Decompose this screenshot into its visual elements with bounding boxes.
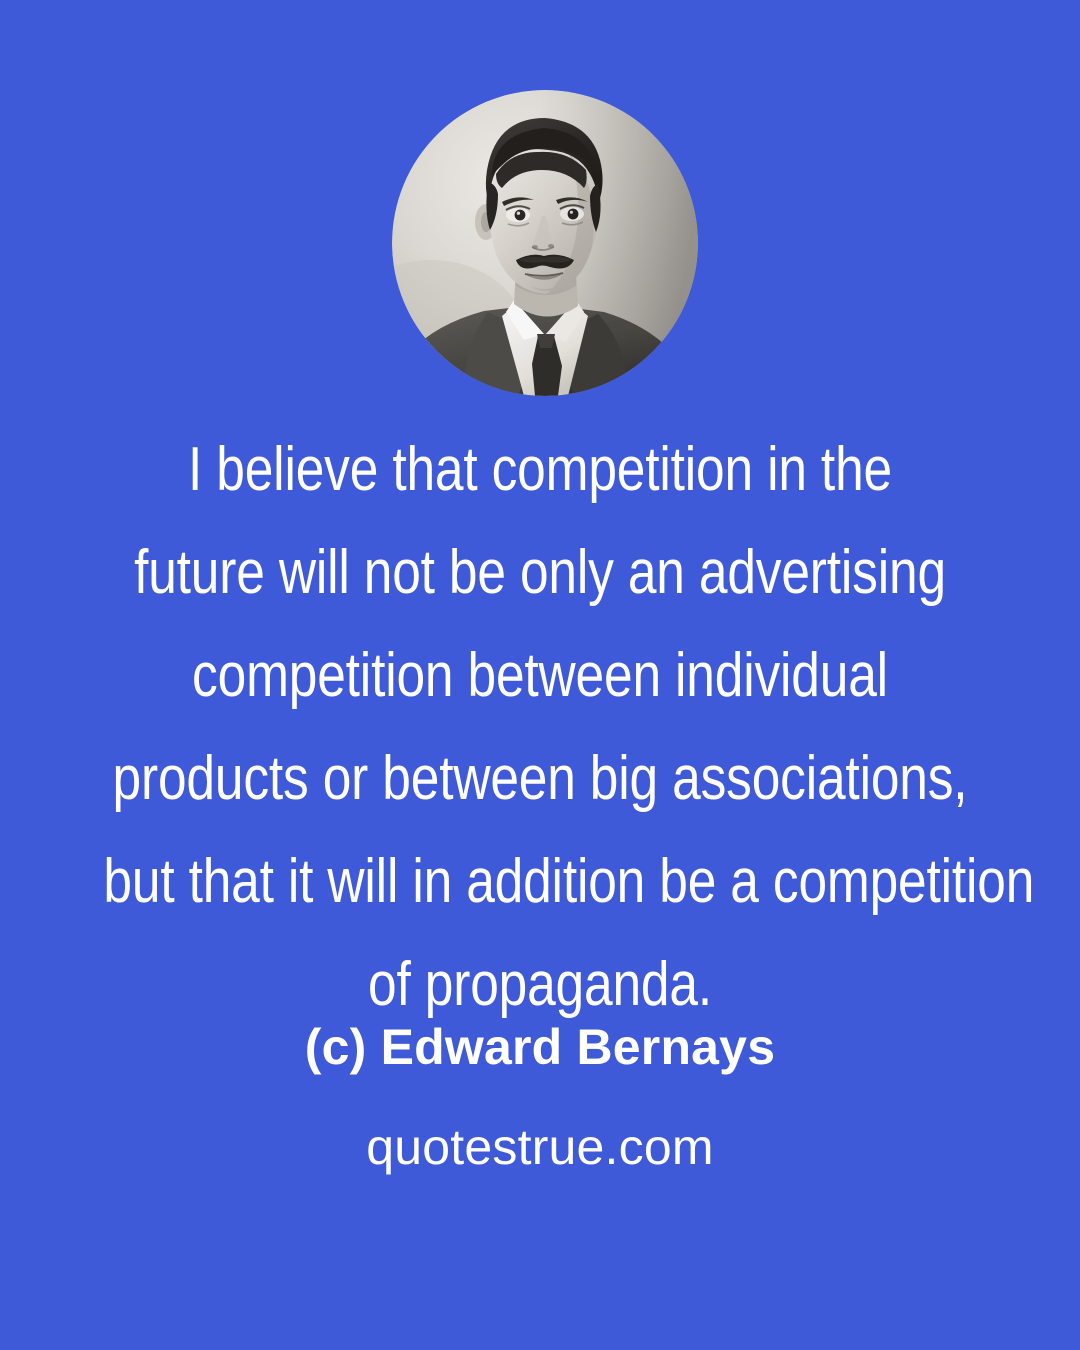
- quote-line: future will not be only an advertising: [103, 521, 976, 624]
- quote-poster: I believe that competition in the future…: [0, 0, 1080, 1350]
- quote-line: products or between big associations,: [103, 727, 976, 830]
- portrait-avatar: [392, 90, 698, 396]
- quote-line: I believe that competition in the: [103, 418, 976, 521]
- site-watermark: quotestrue.com: [0, 1118, 1080, 1176]
- quote-line: but that it will in addition be a compet…: [103, 830, 976, 933]
- quote-line: competition between individual: [103, 624, 976, 727]
- quote-text: I believe that competition in the future…: [0, 418, 1080, 1036]
- portrait-photo-icon: [392, 90, 698, 396]
- quote-attribution: (c) Edward Bernays: [0, 1018, 1080, 1076]
